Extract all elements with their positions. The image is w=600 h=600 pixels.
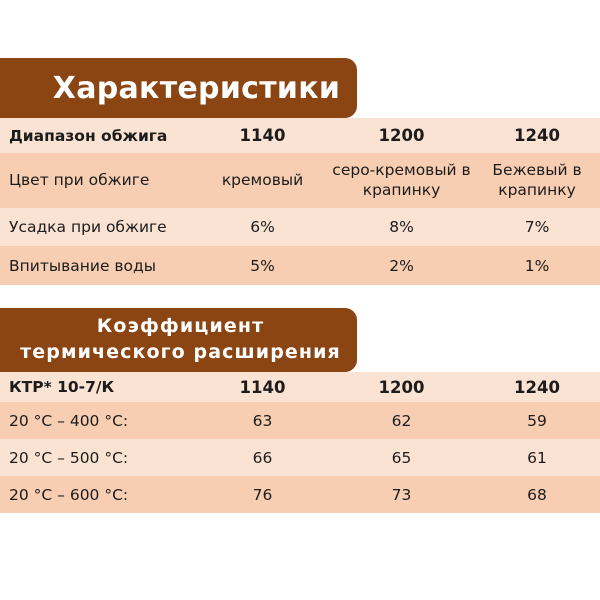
cell-firing-color-1240: Бежевый в крапинку xyxy=(474,153,600,208)
header-value-1140: 1140 xyxy=(196,372,329,402)
cell-20-600-1240: 68 xyxy=(474,476,600,513)
header-label-ktr: КТР* 10-7/К xyxy=(0,372,196,402)
table-row: 20 °C – 400 °C: 63 62 59 xyxy=(0,402,600,439)
cell-shrinkage-1200: 8% xyxy=(329,208,474,246)
cell-20-500-1240: 61 xyxy=(474,439,600,476)
header-value-1140: 1140 xyxy=(196,118,329,153)
row-label-shrinkage: Усадка при обжиге xyxy=(0,208,196,246)
row-label-20-400: 20 °C – 400 °C: xyxy=(0,402,196,439)
header-label: Диапазон обжига xyxy=(0,118,196,153)
table-row: 20 °C – 600 °C: 76 73 68 xyxy=(0,476,600,513)
table-row: Впитывание воды 5% 2% 1% xyxy=(0,246,600,285)
thermal-expansion-table: КТР* 10-7/К 1140 1200 1240 20 °C – 400 °… xyxy=(0,372,600,513)
cell-20-400-1140: 63 xyxy=(196,402,329,439)
cell-20-600-1140: 76 xyxy=(196,476,329,513)
row-label-firing-color: Цвет при обжиге xyxy=(0,153,196,208)
table-header-row: Диапазон обжига 1140 1200 1240 xyxy=(0,118,600,153)
cell-20-400-1240: 59 xyxy=(474,402,600,439)
cell-shrinkage-1140: 6% xyxy=(196,208,329,246)
table-row: Цвет при обжиге кремовый серо-кремовый в… xyxy=(0,153,600,208)
section-one-banner: Характеристики xyxy=(0,58,357,118)
cell-20-500-1200: 65 xyxy=(329,439,474,476)
cell-20-500-1140: 66 xyxy=(196,439,329,476)
header-value-1240: 1240 xyxy=(474,372,600,402)
header-value-1200: 1200 xyxy=(329,118,474,153)
cell-20-600-1200: 73 xyxy=(329,476,474,513)
section-two-banner: Коэффициент термического расширения xyxy=(0,308,357,372)
table-row: Усадка при обжиге 6% 8% 7% xyxy=(0,208,600,246)
header-value-1200: 1200 xyxy=(329,372,474,402)
cell-water-absorption-1140: 5% xyxy=(196,246,329,285)
infographic-page: Характеристики Диапазон обжига 1140 1200… xyxy=(0,0,600,600)
row-label-20-500: 20 °C – 500 °C: xyxy=(0,439,196,476)
header-value-1240: 1240 xyxy=(474,118,600,153)
cell-firing-color-1200: серо-кремовый в крапинку xyxy=(329,153,474,208)
cell-firing-color-1140: кремовый xyxy=(196,153,329,208)
section-one-title: Характеристики xyxy=(53,72,340,105)
cell-20-400-1200: 62 xyxy=(329,402,474,439)
section-two-title: Коэффициент термического расширения xyxy=(18,314,343,365)
table-row: 20 °C – 500 °C: 66 65 61 xyxy=(0,439,600,476)
row-label-water-absorption: Впитывание воды xyxy=(0,246,196,285)
characteristics-table: Диапазон обжига 1140 1200 1240 Цвет при … xyxy=(0,118,600,285)
cell-shrinkage-1240: 7% xyxy=(474,208,600,246)
row-label-20-600: 20 °C – 600 °C: xyxy=(0,476,196,513)
table-header-row: КТР* 10-7/К 1140 1200 1240 xyxy=(0,372,600,402)
cell-water-absorption-1240: 1% xyxy=(474,246,600,285)
cell-water-absorption-1200: 2% xyxy=(329,246,474,285)
